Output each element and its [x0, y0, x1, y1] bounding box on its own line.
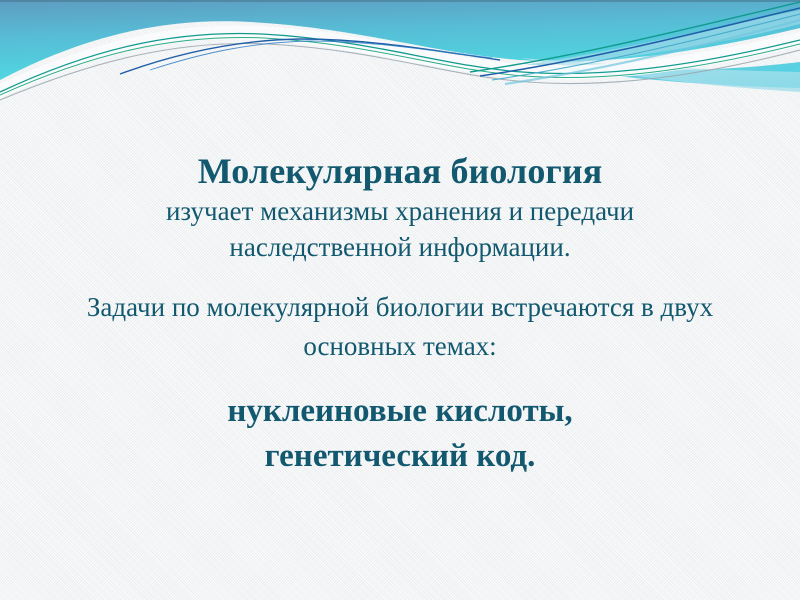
- emphasis-line-2: генетический код.: [40, 434, 760, 480]
- presentation-slide: Молекулярная биология изучает механизмы …: [0, 0, 800, 600]
- slide-title: Молекулярная биология: [40, 150, 760, 192]
- header-wave-decoration: [0, 0, 800, 110]
- top-edge-rule: [0, 0, 800, 2]
- emphasis-block: нуклеиновые кислоты, генетический код.: [40, 389, 760, 480]
- lead-paragraph: изучает механизмы хранения и передачи на…: [85, 194, 715, 266]
- topics-paragraph: Задачи по молекулярной биологии встречаю…: [50, 288, 750, 366]
- slide-content: Молекулярная биология изучает механизмы …: [0, 150, 800, 480]
- emphasis-line-1: нуклеиновые кислоты,: [40, 389, 760, 435]
- header-wave-svg: [0, 0, 800, 110]
